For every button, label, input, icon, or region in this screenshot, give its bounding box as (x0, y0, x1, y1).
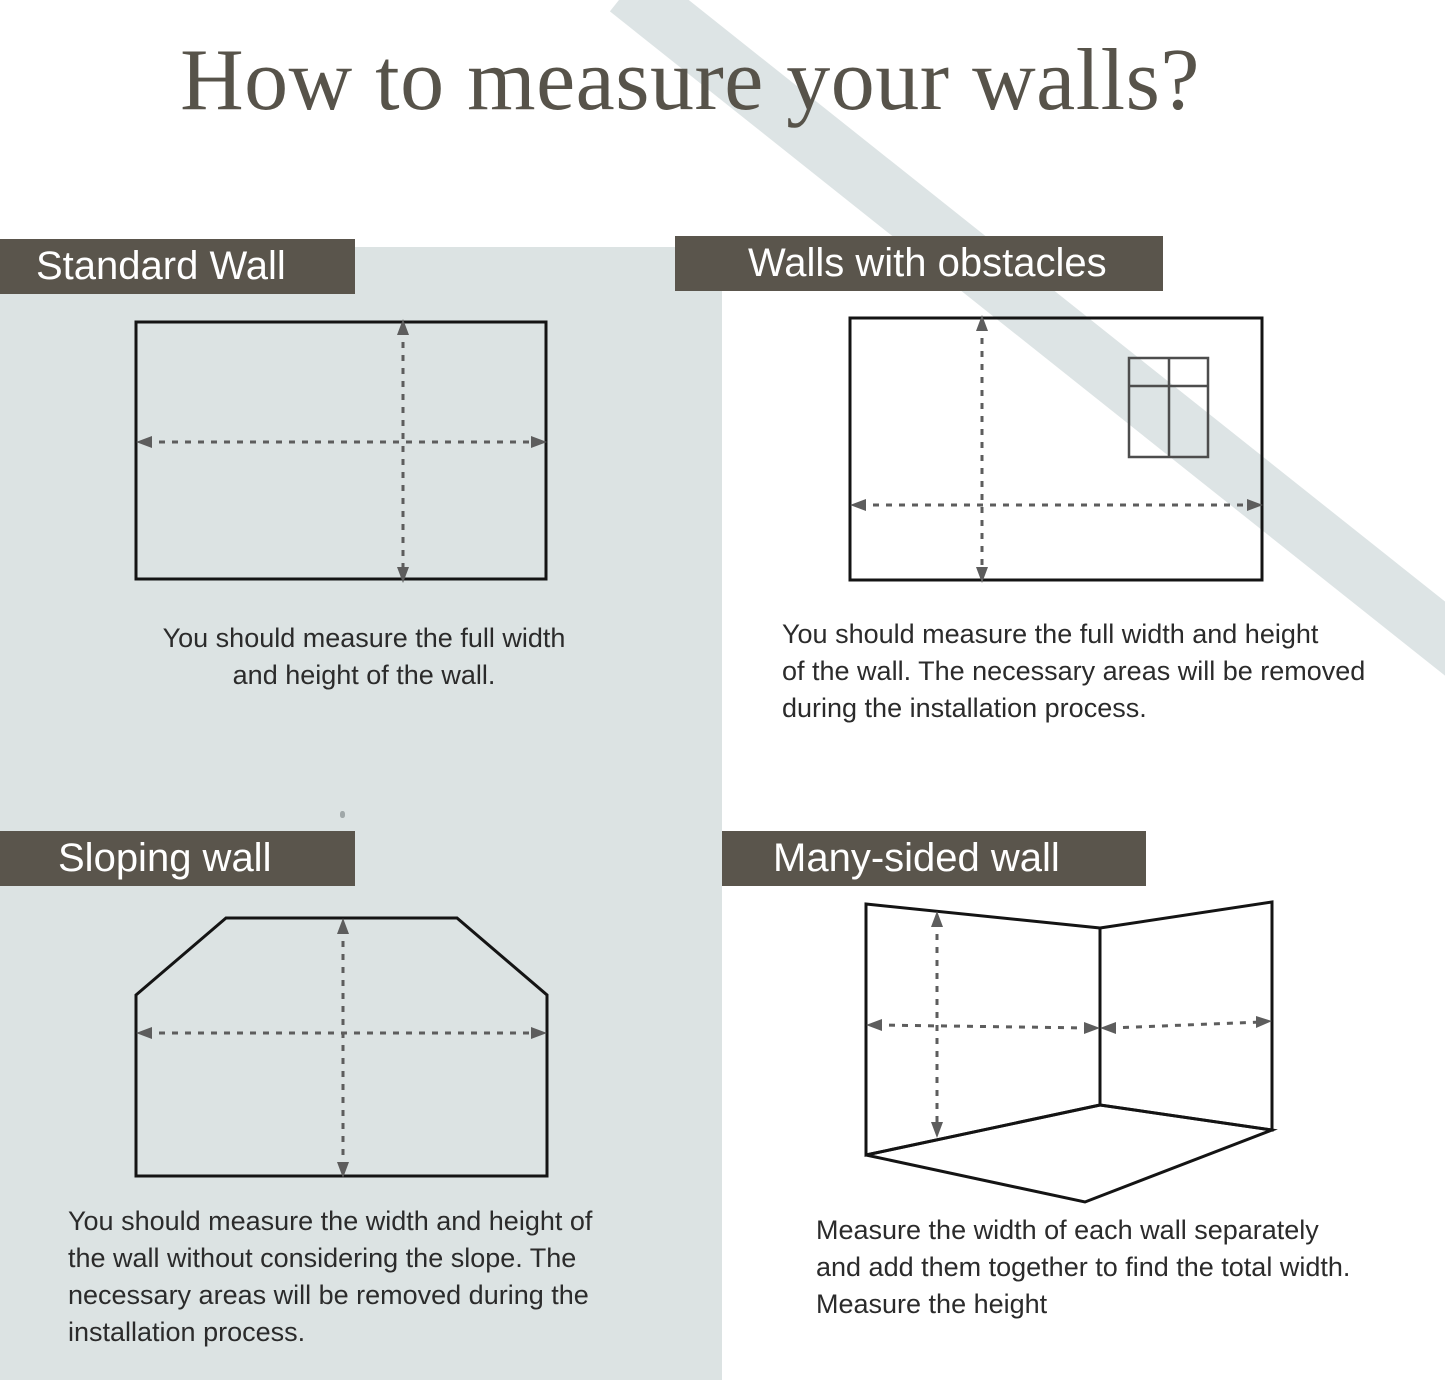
section-heading-standard-wall: Standard Wall (0, 239, 355, 294)
section-heading-walls-with-obstacles: Walls with obstacles (675, 236, 1163, 291)
obstacles-wall-diagram (835, 305, 1295, 600)
standard-wall-diagram (120, 305, 580, 600)
section-heading-sloping-wall: Sloping wall (0, 831, 355, 886)
infographic-page: How to measure your walls? Standard Wall… (0, 0, 1445, 1386)
caption-walls-with-obstacles: You should measure the full width and he… (782, 616, 1412, 727)
caption-many-sided-wall: Measure the width of each wall separatel… (816, 1212, 1416, 1323)
section-heading-many-sided-wall: Many-sided wall (722, 831, 1146, 886)
image-artifact-speck (340, 811, 345, 818)
window-obstacle (1129, 358, 1208, 457)
caption-sloping-wall: You should measure the width and height … (68, 1203, 668, 1351)
caption-standard-wall: You should measure the full width and he… (104, 620, 624, 694)
many-sided-wall-diagram (850, 890, 1320, 1215)
sloping-wall-diagram (115, 900, 575, 1200)
page-title: How to measure your walls? (0, 30, 1380, 131)
